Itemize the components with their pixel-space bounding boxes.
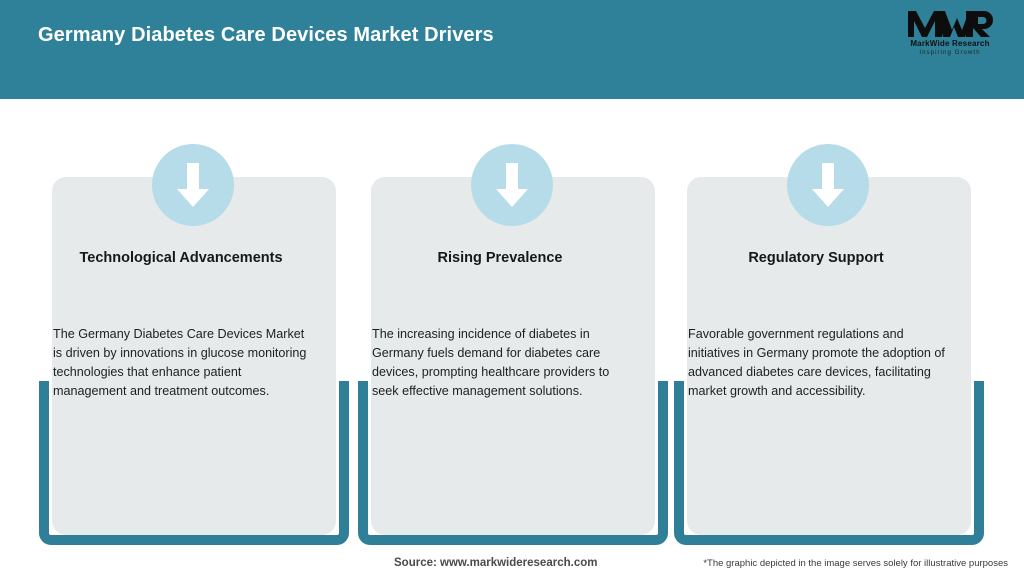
card-title: Regulatory Support <box>688 249 944 267</box>
card-body-text: The increasing incidence of diabetes in … <box>372 325 630 401</box>
brand-logo: MarkWide Research Inspiring Growth <box>894 8 1006 62</box>
cards-container: Technological Advancements The Germany D… <box>0 99 1024 529</box>
arrow-down-glyph <box>809 161 847 209</box>
header-bar: Germany Diabetes Care Devices Market Dri… <box>0 0 1024 99</box>
logo-tagline: Inspiring Growth <box>894 49 1006 57</box>
logo-company-name: MarkWide Research <box>894 39 1006 49</box>
card-title: Technological Advancements <box>53 249 309 267</box>
card-body-text: The Germany Diabetes Care Devices Market… <box>53 325 311 401</box>
page-title: Germany Diabetes Care Devices Market Dri… <box>38 24 494 47</box>
driver-card-technological-advancements[interactable]: Technological Advancements The Germany D… <box>39 99 349 529</box>
arrow-down-glyph <box>493 161 531 209</box>
arrow-down-glyph <box>174 161 212 209</box>
arrow-down-icon <box>787 144 869 226</box>
driver-card-rising-prevalence[interactable]: Rising Prevalence The increasing inciden… <box>358 99 668 529</box>
mwr-logo-icon <box>907 8 993 38</box>
arrow-down-icon <box>471 144 553 226</box>
arrow-down-icon <box>152 144 234 226</box>
source-label: Source: www.markwideresearch.com <box>394 557 597 569</box>
disclaimer-label: *The graphic depicted in the image serve… <box>703 558 1008 569</box>
driver-card-regulatory-support[interactable]: Regulatory Support Favorable government … <box>674 99 984 529</box>
card-title: Rising Prevalence <box>372 249 628 267</box>
card-body-text: Favorable government regulations and ini… <box>688 325 946 401</box>
